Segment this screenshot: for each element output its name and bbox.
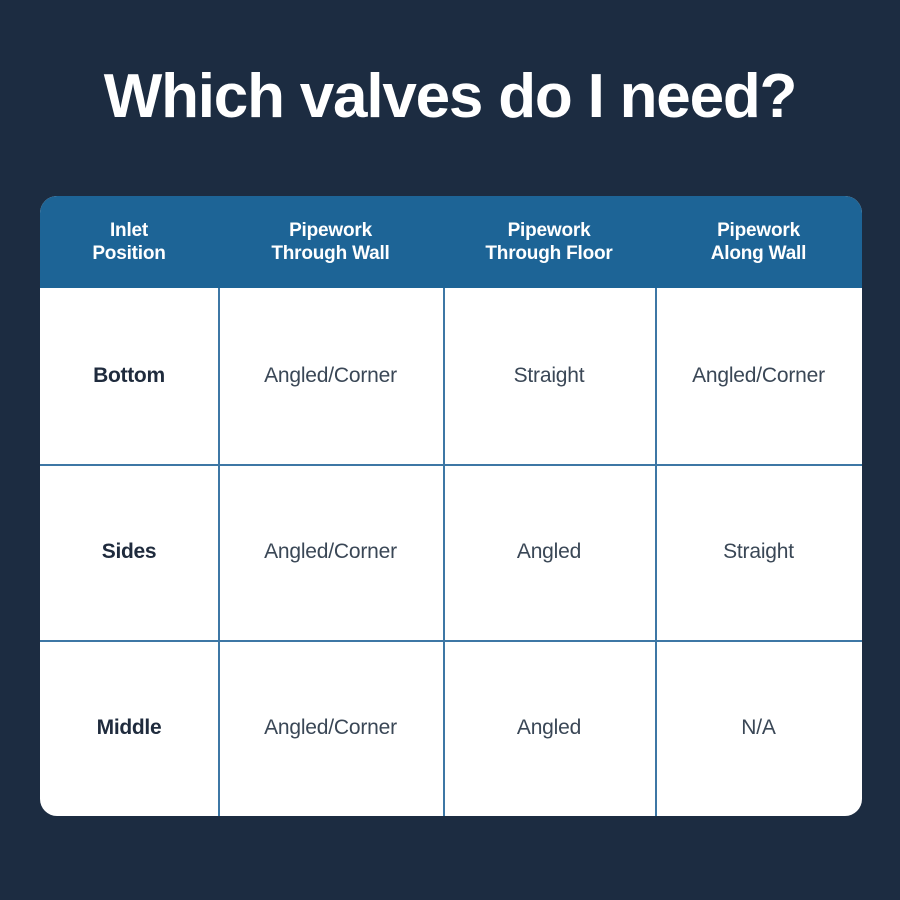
infographic-page: Which valves do I need? Inlet Position P…: [0, 0, 900, 900]
cell-value: Angled: [517, 716, 581, 740]
row-label: Sides: [102, 540, 157, 564]
row-label-cell: Bottom: [40, 288, 218, 464]
cell-value: N/A: [741, 716, 775, 740]
cell-value: Angled/Corner: [692, 364, 825, 388]
column-header-inlet-position: Inlet Position: [40, 219, 218, 265]
cell-value: Angled/Corner: [264, 364, 397, 388]
table-row: Sides Angled/Corner Angled Straight: [40, 464, 862, 640]
row-label: Middle: [97, 716, 162, 740]
cell-value: Straight: [723, 540, 794, 564]
table-cell: Angled/Corner: [218, 288, 443, 464]
table-row: Bottom Angled/Corner Straight Angled/Cor…: [40, 288, 862, 464]
row-label-cell: Middle: [40, 640, 218, 816]
page-title: Which valves do I need?: [0, 64, 900, 129]
column-header-line1: Inlet: [110, 220, 148, 241]
table-cell: Angled: [443, 640, 655, 816]
column-header-pipework-along-wall: Pipework Along Wall: [655, 219, 862, 265]
column-header-pipework-through-floor: Pipework Through Floor: [443, 219, 655, 265]
table-cell: Angled/Corner: [655, 288, 862, 464]
cell-value: Angled/Corner: [264, 540, 397, 564]
column-header-line1: Pipework: [717, 220, 800, 241]
column-header-line1: Pipework: [508, 220, 591, 241]
valve-selection-table: Inlet Position Pipework Through Wall Pip…: [40, 196, 862, 816]
column-header-line2: Along Wall: [661, 242, 856, 265]
cell-value: Straight: [514, 364, 585, 388]
column-header-line1: Pipework: [289, 220, 372, 241]
table-cell: Angled/Corner: [218, 640, 443, 816]
column-header-line2: Through Floor: [449, 242, 649, 265]
table-header-row: Inlet Position Pipework Through Wall Pip…: [40, 196, 862, 288]
cell-value: Angled/Corner: [264, 716, 397, 740]
table-row: Middle Angled/Corner Angled N/A: [40, 640, 862, 816]
row-label: Bottom: [93, 364, 165, 388]
table-cell: Straight: [443, 288, 655, 464]
table-cell: Angled/Corner: [218, 464, 443, 640]
row-label-cell: Sides: [40, 464, 218, 640]
cell-value: Angled: [517, 540, 581, 564]
table-cell: Angled: [443, 464, 655, 640]
column-header-pipework-through-wall: Pipework Through Wall: [218, 219, 443, 265]
table-cell: Straight: [655, 464, 862, 640]
column-header-line2: Position: [46, 242, 212, 265]
table-body: Bottom Angled/Corner Straight Angled/Cor…: [40, 288, 862, 816]
column-header-line2: Through Wall: [224, 242, 437, 265]
table-cell: N/A: [655, 640, 862, 816]
